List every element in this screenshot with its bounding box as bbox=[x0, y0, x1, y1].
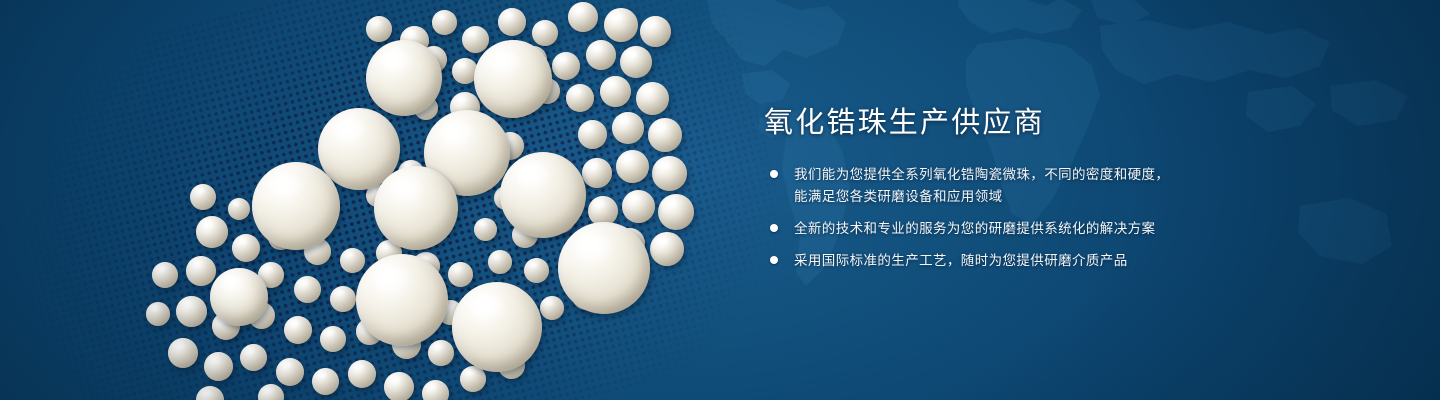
bullet-text-3: 采用国际标准的生产工艺，随时为您提供研磨介质产品 bbox=[794, 250, 1128, 272]
bullet-dot-icon bbox=[770, 224, 778, 232]
zirconia-beads-image bbox=[0, 0, 760, 400]
bullet-item-2: 全新的技术和专业的服务为您的研磨提供系统化的解决方案 bbox=[764, 218, 1234, 240]
bullet-item-3: 采用国际标准的生产工艺，随时为您提供研磨介质产品 bbox=[764, 250, 1234, 272]
banner-bullet-list: 我们能为您提供全系列氧化锆陶瓷微珠，不同的密度和硬度， 能满足您各类研磨设备和应… bbox=[764, 164, 1234, 272]
bullet-text-1: 我们能为您提供全系列氧化锆陶瓷微珠，不同的密度和硬度， 能满足您各类研磨设备和应… bbox=[794, 164, 1169, 208]
bullet-text-2: 全新的技术和专业的服务为您的研磨提供系统化的解决方案 bbox=[794, 218, 1155, 240]
bullet-text-1-line1: 我们能为您提供全系列氧化锆陶瓷微珠，不同的密度和硬度， bbox=[794, 167, 1169, 182]
bullet-dot-icon bbox=[770, 170, 778, 178]
hero-banner: 氧化锆珠生产供应商 我们能为您提供全系列氧化锆陶瓷微珠，不同的密度和硬度， 能满… bbox=[0, 0, 1440, 400]
bullet-item-1: 我们能为您提供全系列氧化锆陶瓷微珠，不同的密度和硬度， 能满足您各类研磨设备和应… bbox=[764, 164, 1234, 208]
bullet-dot-icon bbox=[770, 256, 778, 264]
banner-text-column: 氧化锆珠生产供应商 我们能为您提供全系列氧化锆陶瓷微珠，不同的密度和硬度， 能满… bbox=[764, 104, 1234, 282]
bullet-text-1-line2: 能满足您各类研磨设备和应用领域 bbox=[794, 186, 1169, 208]
banner-title: 氧化锆珠生产供应商 bbox=[764, 104, 1234, 142]
